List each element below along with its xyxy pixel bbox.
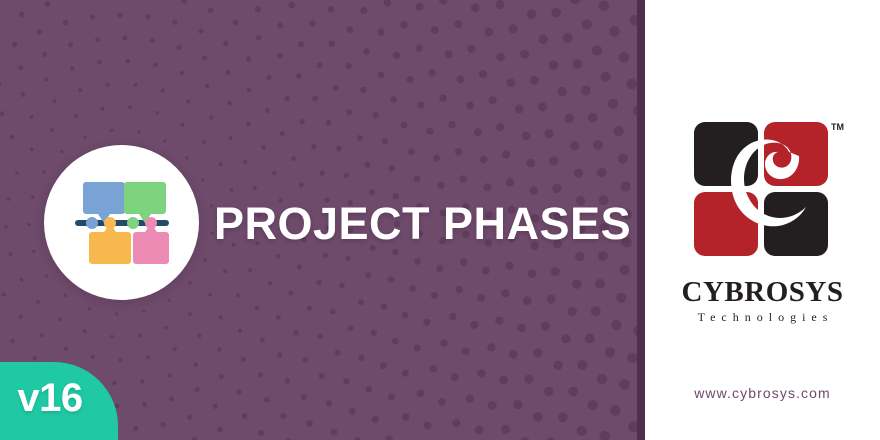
phase-2-node [104, 217, 116, 229]
brand-logo-block: TM CYBROSYS Technologies [645, 118, 880, 326]
phase-2-card [89, 223, 131, 264]
phase-3-card [124, 182, 166, 223]
banner-root: PROJECT PHASES v16 TM CYBROSYS [0, 0, 880, 440]
right-white-panel: TM CYBROSYS Technologies www.cybrosys.co… [645, 0, 880, 440]
version-badge-label: v16 [0, 376, 100, 421]
website-url[interactable]: www.cybrosys.com [645, 385, 880, 401]
project-phases-timeline-icon [75, 180, 169, 266]
phase-3-node [127, 217, 139, 229]
phase-4-node [145, 217, 157, 229]
left-purple-panel: PROJECT PHASES v16 [0, 0, 645, 440]
phase-1-node [86, 217, 98, 229]
page-title: PROJECT PHASES [214, 199, 631, 249]
panel-divider [637, 0, 645, 440]
cybrosys-logo-icon [690, 118, 835, 268]
trademark-symbol: TM [831, 122, 844, 132]
phase-4-card [133, 223, 169, 264]
project-phases-icon-circle [44, 145, 199, 300]
phase-1-card [83, 182, 125, 223]
brand-tagline: Technologies [645, 308, 880, 326]
brand-wordmark: CYBROSYS [645, 276, 880, 308]
cybrosys-logo-mark: TM [690, 118, 835, 268]
